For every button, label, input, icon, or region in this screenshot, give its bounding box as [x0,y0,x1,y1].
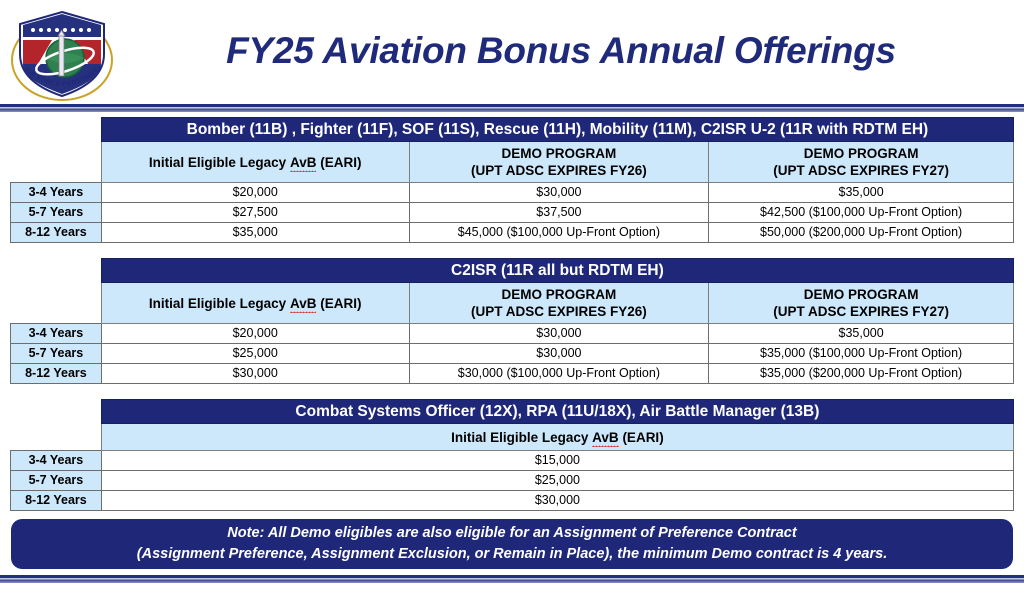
table-row: 5-7 Years $25,000 $30,000 $35,000 ($100,… [11,344,1014,364]
corner-spacer [11,283,102,324]
group-header-label: Combat Systems Officer (12X), RPA (11U/1… [101,400,1013,424]
cell-value: $30,000 ($100,000 Up-Front Option) [409,364,709,384]
cell-value: $50,000 ($200,000 Up-Front Option) [709,223,1014,243]
corner-spacer [11,400,102,424]
row-label: 5-7 Years [11,471,102,491]
column-header-legacy-avb: Initial Eligible Legacy AvB (EARI) [101,142,409,183]
table-row: 8-12 Years $30,000 [11,491,1014,511]
air-force-personnel-center-logo-icon: AIR FORCE PERSONNEL CENTER [8,4,116,102]
corner-spacer [11,259,102,283]
group-header-row: Combat Systems Officer (12X), RPA (11U/1… [11,400,1014,424]
cell-value: $45,000 ($100,000 Up-Front Option) [409,223,709,243]
column-header-legacy-avb: Initial Eligible Legacy AvB (EARI) [101,283,409,324]
cell-value: $30,000 [101,364,409,384]
cell-value: $20,000 [101,183,409,203]
row-label: 5-7 Years [11,203,102,223]
corner-spacer [11,118,102,142]
table-row: 8-12 Years $35,000 $45,000 ($100,000 Up-… [11,223,1014,243]
cell-value: $25,000 [101,344,409,364]
row-label: 3-4 Years [11,451,102,471]
row-label: 8-12 Years [11,364,102,384]
cell-value: $42,500 ($100,000 Up-Front Option) [709,203,1014,223]
group-header-row: C2ISR (11R all but RDTM EH) [11,259,1014,283]
footer-note-line-2: (Assignment Preference, Assignment Exclu… [137,544,887,565]
row-label: 5-7 Years [11,344,102,364]
table-row: 3-4 Years $20,000 $30,000 $35,000 [11,183,1014,203]
column-header-row: Initial Eligible Legacy AvB (EARI) DEMO … [11,283,1014,324]
row-label: 3-4 Years [11,324,102,344]
bonus-table-1: Bomber (11B) , Fighter (11F), SOF (11S),… [10,117,1014,243]
column-header-demo-fy27: DEMO PROGRAM (UPT ADSC EXPIRES FY27) [709,283,1014,324]
column-header-row: Initial Eligible Legacy AvB (EARI) [11,424,1014,451]
cell-value: $35,000 ($200,000 Up-Front Option) [709,364,1014,384]
cell-value: $35,000 [709,183,1014,203]
row-label: 8-12 Years [11,491,102,511]
group-header-label: Bomber (11B) , Fighter (11F), SOF (11S),… [101,118,1013,142]
cell-value: $35,000 [709,324,1014,344]
cell-value: $30,000 [409,324,709,344]
page-header: AIR FORCE PERSONNEL CENTER FY25 Aviation… [0,0,1024,105]
column-header-demo-fy26: DEMO PROGRAM (UPT ADSC EXPIRES FY26) [409,283,709,324]
header-divider-rule [0,104,1024,112]
corner-spacer [11,142,102,183]
group-header-row: Bomber (11B) , Fighter (11F), SOF (11S),… [11,118,1014,142]
corner-spacer [11,424,102,451]
footer-note-line-1: Note: All Demo eligibles are also eligib… [227,523,796,544]
spellcheck-underline-avb: AvB [290,154,317,171]
bonus-table-3: Combat Systems Officer (12X), RPA (11U/1… [10,399,1014,511]
table-row: 8-12 Years $30,000 $30,000 ($100,000 Up-… [11,364,1014,384]
row-label: 3-4 Years [11,183,102,203]
table-row: 5-7 Years $27,500 $37,500 $42,500 ($100,… [11,203,1014,223]
column-header-row: Initial Eligible Legacy AvB (EARI) DEMO … [11,142,1014,183]
column-header-legacy-avb: Initial Eligible Legacy AvB (EARI) [101,424,1013,451]
bonus-table-2: C2ISR (11R all but RDTM EH) Initial Elig… [10,258,1014,384]
table-block-aviation-rated: Bomber (11B) , Fighter (11F), SOF (11S),… [10,117,1014,243]
cell-value: $30,000 [101,491,1013,511]
footer-note-box: Note: All Demo eligibles are also eligib… [11,519,1013,569]
cell-value: $35,000 [101,223,409,243]
cell-value: $15,000 [101,451,1013,471]
spellcheck-underline-avb: AvB [290,295,317,312]
cell-value: $37,500 [409,203,709,223]
table-row: 3-4 Years $15,000 [11,451,1014,471]
row-label: 8-12 Years [11,223,102,243]
column-header-demo-fy26: DEMO PROGRAM (UPT ADSC EXPIRES FY26) [409,142,709,183]
page-title: FY25 Aviation Bonus Annual Offerings [116,30,1006,72]
cell-value: $30,000 [409,344,709,364]
cell-value: $27,500 [101,203,409,223]
table-row: 5-7 Years $25,000 [11,471,1014,491]
table-block-cso-rpa-abm: Combat Systems Officer (12X), RPA (11U/1… [10,399,1014,511]
column-header-demo-fy27: DEMO PROGRAM (UPT ADSC EXPIRES FY27) [709,142,1014,183]
table-block-c2isr: C2ISR (11R all but RDTM EH) Initial Elig… [10,258,1014,384]
cell-value: $20,000 [101,324,409,344]
table-row: 3-4 Years $20,000 $30,000 $35,000 [11,324,1014,344]
footer-divider-rule [0,575,1024,583]
cell-value: $35,000 ($100,000 Up-Front Option) [709,344,1014,364]
cell-value: $25,000 [101,471,1013,491]
spellcheck-underline-avb: AvB [592,429,619,446]
group-header-label: C2ISR (11R all but RDTM EH) [101,259,1013,283]
cell-value: $30,000 [409,183,709,203]
